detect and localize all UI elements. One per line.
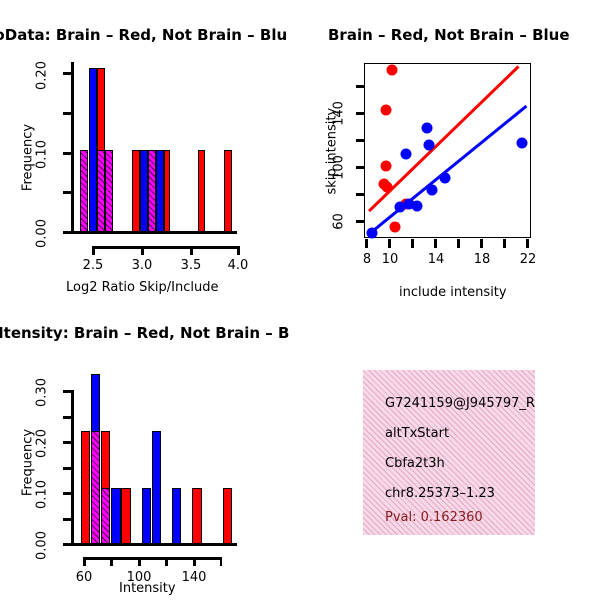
info-line-event-type: altTxStart bbox=[385, 426, 449, 441]
scatter-y-tick bbox=[356, 166, 365, 169]
scatter-x-tick bbox=[526, 239, 529, 248]
hist-intensity-x-tick bbox=[83, 557, 86, 566]
histogram-bar bbox=[80, 150, 88, 232]
scatter-point bbox=[395, 202, 406, 213]
hist-intensity-ylabel: Frequency bbox=[21, 423, 36, 503]
histogram-bar bbox=[140, 150, 148, 232]
hist-intensity-y-ticklabel: 0.20 bbox=[35, 424, 50, 464]
scatter-x-tick bbox=[457, 239, 460, 248]
info-line-gene: Cbfa2t3h bbox=[385, 456, 445, 471]
hist-ratio-y-tick bbox=[63, 72, 72, 75]
hist-ratio-title: atioData: Brain – Red, Not Brain – Blu bbox=[0, 26, 287, 44]
scatter-point bbox=[400, 148, 411, 159]
scatter-x-tick bbox=[503, 239, 506, 248]
hist-ratio-x-axis bbox=[71, 231, 237, 234]
hist-intensity-y-tick bbox=[63, 492, 72, 495]
hist-ratio-x-tick bbox=[190, 246, 193, 255]
hist-intensity-x-axis bbox=[71, 543, 237, 546]
histogram-bar bbox=[172, 488, 181, 545]
scatter-x-ticklabel: 22 bbox=[507, 252, 549, 267]
hist-intensity-x-ticklabel: 60 bbox=[63, 570, 105, 585]
hist-ratio-x-ticklabel: 3.0 bbox=[121, 258, 163, 273]
scatter-y-ticklabel: 100 bbox=[332, 151, 347, 185]
scatter-x-tick bbox=[365, 239, 368, 248]
histogram-bar bbox=[81, 431, 90, 545]
scatter-x-ticklabel: 14 bbox=[415, 252, 457, 267]
scatter-point bbox=[381, 182, 392, 193]
panel-scatter-intensity: Brain – Red, Not Brain – Blue skip inten… bbox=[300, 0, 600, 300]
hist-ratio-x-tick bbox=[141, 246, 144, 255]
scatter-point bbox=[411, 200, 422, 211]
scatter-y-tick bbox=[356, 193, 365, 196]
info-box: G7241159@J945797_R altTxStart Cbfa2t3h c… bbox=[363, 370, 535, 535]
hist-ratio-x-tick bbox=[92, 246, 95, 255]
hist-ratio-x-ticklabel: 3.5 bbox=[170, 258, 212, 273]
hist-intensity-y-tick bbox=[63, 441, 72, 444]
scatter-title: Brain – Red, Not Brain – Blue bbox=[328, 26, 570, 44]
histogram-bar bbox=[142, 488, 151, 545]
scatter-x-ticklabel: 10 bbox=[369, 252, 411, 267]
histogram-bar bbox=[97, 150, 105, 232]
scatter-x-tick bbox=[388, 239, 391, 248]
panel-histogram-intensity: ne Itensity: Brain – Red, Not Brain – B … bbox=[0, 300, 300, 600]
regression-line bbox=[368, 105, 527, 235]
scatter-y-tick bbox=[356, 139, 365, 142]
scatter-point bbox=[423, 139, 434, 150]
hist-intensity-x-tick bbox=[110, 557, 113, 566]
histogram-bar bbox=[192, 488, 201, 545]
scatter-xlabel: include intensity bbox=[399, 285, 507, 300]
scatter-point bbox=[380, 104, 391, 115]
hist-intensity-x-tick bbox=[220, 557, 222, 566]
hist-ratio-y-ticklabel: 0.00 bbox=[35, 214, 50, 254]
histogram-bar bbox=[223, 488, 232, 545]
hist-ratio-y-tick bbox=[63, 112, 72, 115]
hist-ratio-x-ticklabel: 2.5 bbox=[72, 258, 114, 273]
hist-intensity-plot-area bbox=[75, 370, 237, 545]
hist-intensity-x-ticklabel: 100 bbox=[118, 570, 160, 585]
histogram-bar bbox=[156, 150, 164, 232]
scatter-plot-area bbox=[364, 63, 531, 238]
scatter-x-tick bbox=[411, 239, 414, 248]
hist-intensity-x-tick bbox=[193, 557, 196, 566]
histogram-bar bbox=[89, 68, 97, 232]
histogram-bar bbox=[91, 431, 100, 545]
hist-ratio-x-tick bbox=[237, 246, 240, 255]
histogram-bar bbox=[101, 488, 110, 545]
hist-ratio-y-tick bbox=[63, 152, 72, 155]
hist-intensity-y-ticklabel: 0.00 bbox=[35, 526, 50, 566]
scatter-y-ticklabel: 60 bbox=[332, 205, 347, 239]
hist-intensity-y-tick bbox=[63, 390, 72, 393]
histogram-bar bbox=[164, 150, 170, 232]
hist-intensity-x-ticklabel: 140 bbox=[173, 570, 215, 585]
scatter-x-tick bbox=[480, 239, 483, 248]
info-line-locus: chr8.25373–1.23 bbox=[385, 486, 495, 501]
scatter-point bbox=[421, 122, 432, 133]
scatter-point bbox=[366, 227, 377, 238]
hist-intensity-x-tick bbox=[165, 557, 168, 566]
info-line-probe-id: G7241159@J945797_R bbox=[385, 396, 535, 411]
hist-ratio-y-axis bbox=[71, 62, 74, 233]
hist-intensity-x-tick bbox=[138, 557, 141, 566]
hist-ratio-y-tick bbox=[63, 191, 72, 194]
histogram-bar bbox=[111, 488, 120, 545]
hist-intensity-y-tick bbox=[63, 467, 72, 470]
scatter-point bbox=[387, 65, 398, 76]
scatter-x-ticklabel: 18 bbox=[461, 252, 503, 267]
scatter-y-tick bbox=[356, 85, 365, 88]
hist-intensity-title: ne Itensity: Brain – Red, Not Brain – B bbox=[0, 324, 289, 342]
histogram-bar bbox=[152, 431, 161, 545]
hist-ratio-y-ticklabel: 0.20 bbox=[35, 56, 50, 96]
scatter-x-tick bbox=[434, 239, 437, 248]
hist-intensity-y-ticklabel: 0.10 bbox=[35, 475, 50, 515]
histogram-bar bbox=[224, 150, 231, 232]
histogram-bar bbox=[121, 488, 130, 545]
histogram-bar bbox=[105, 150, 113, 232]
hist-ratio-y-ticklabel: 0.10 bbox=[35, 135, 50, 175]
scatter-y-ticklabel: 140 bbox=[332, 97, 347, 131]
scatter-point bbox=[427, 185, 438, 196]
histogram-bar bbox=[148, 150, 156, 232]
hist-ratio-x-axis-rule bbox=[92, 246, 240, 249]
info-line-pvalue: Pval: 0.162360 bbox=[385, 510, 483, 525]
hist-intensity-y-ticklabel: 0.30 bbox=[35, 373, 50, 413]
hist-ratio-ylabel: Frequency bbox=[21, 118, 36, 198]
scatter-point bbox=[517, 138, 528, 149]
hist-ratio-plot-area bbox=[75, 62, 237, 232]
scatter-point bbox=[440, 173, 451, 184]
scatter-point bbox=[389, 221, 400, 232]
histogram-bar bbox=[132, 150, 140, 232]
panel-histogram-log2-ratio: atioData: Brain – Red, Not Brain – Blu F… bbox=[0, 0, 300, 300]
hist-ratio-x-ticklabel: 4.0 bbox=[217, 258, 259, 273]
scatter-y-tick bbox=[356, 112, 365, 115]
histogram-bar bbox=[198, 150, 205, 232]
hist-intensity-y-tick bbox=[63, 518, 72, 521]
hist-intensity-x-axis-rule bbox=[83, 557, 220, 560]
hist-intensity-y-tick bbox=[63, 416, 72, 419]
scatter-point bbox=[380, 160, 391, 171]
hist-ratio-xlabel: Log2 Ratio Skip/Include bbox=[66, 280, 218, 295]
scatter-y-tick bbox=[356, 220, 365, 223]
